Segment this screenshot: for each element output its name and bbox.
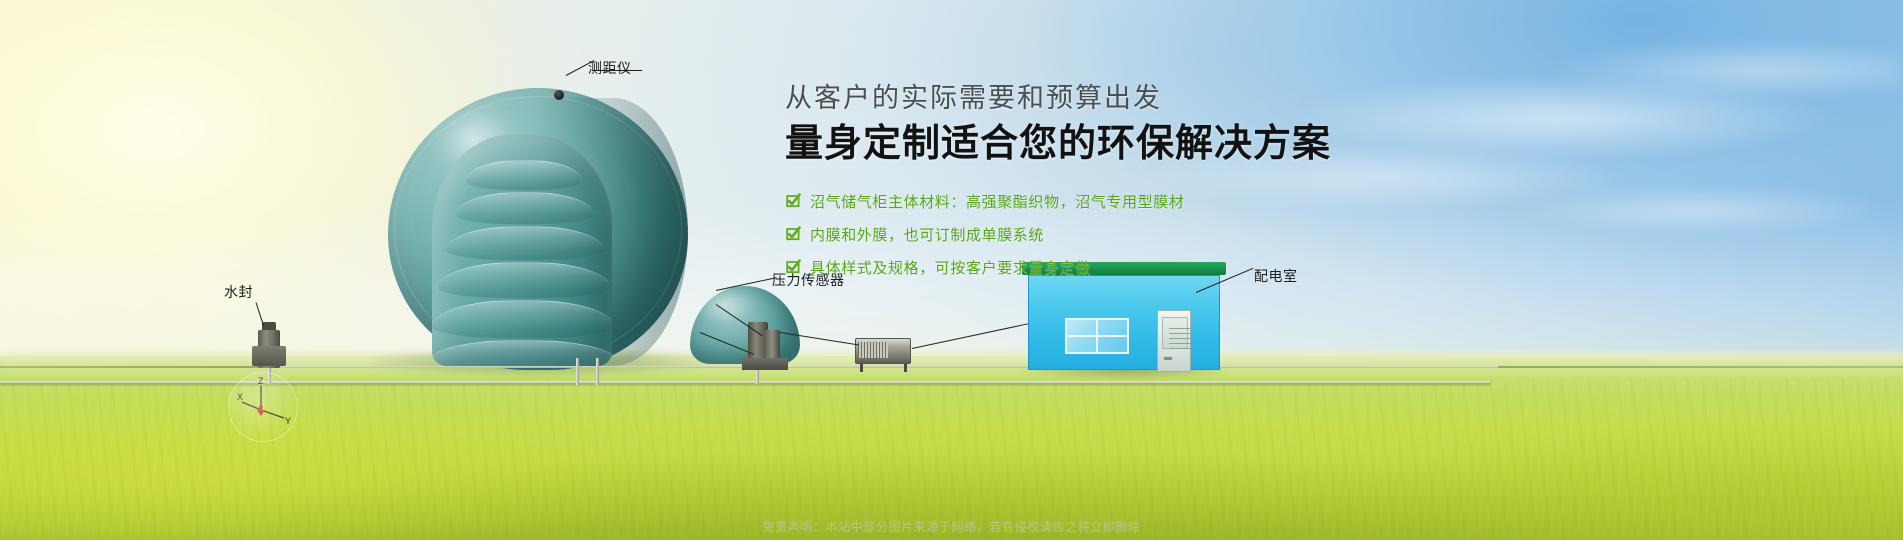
disclaimer-text: 免责声明：本站中部分图片来源于网络，若有侵权请告之将立即删除 (0, 518, 1903, 535)
membrane-fold (438, 262, 610, 298)
pipe-riser (576, 358, 579, 386)
blower-fins (858, 342, 888, 358)
pressure-sensor-base (742, 358, 788, 370)
gas-storage-dome (388, 88, 688, 370)
panel-display-lines (1169, 328, 1191, 352)
panel-button (1164, 357, 1172, 360)
membrane-fold (432, 340, 612, 366)
skid-leg (860, 364, 863, 372)
main-pipeline (0, 381, 1490, 384)
label-water-seal: 水封 (224, 282, 253, 302)
list-item: 具体样式及规格，可按客户要求量身定做 (785, 255, 1485, 280)
gizmo-ring (228, 372, 298, 442)
headline: 量身定制适合您的环保解决方案 (785, 121, 1485, 169)
list-item: 内膜和外膜，也可订制成单膜系统 (785, 222, 1485, 247)
rangefinder-device (554, 90, 564, 100)
marketing-copy: 从客户的实际需要和预算出发 量身定制适合您的环保解决方案 沼气储气柜主体材料：高… (785, 82, 1485, 288)
skid-leg (904, 364, 907, 372)
list-item-label: 具体样式及规格，可按客户要求量身定做 (810, 257, 1091, 278)
building-body (1028, 275, 1220, 370)
subtitle: 从客户的实际需要和预算出发 (785, 82, 1485, 114)
building-control-panel (1157, 310, 1191, 372)
secondary-pipeline (258, 366, 1498, 368)
membrane-fold (432, 300, 612, 338)
membrane-fold (446, 226, 604, 260)
dome-inner-membrane (432, 134, 612, 366)
water-seal-base (252, 346, 286, 366)
check-icon (785, 259, 801, 275)
hero-banner: 测距仪 水封 压力传感器 配电室 (0, 0, 1903, 540)
list-item-label: 沼气储气柜主体材料：高强聚酯织物，沼气专用型膜材 (810, 191, 1184, 212)
check-icon (785, 193, 801, 209)
check-icon (785, 226, 801, 242)
membrane-fold (456, 192, 594, 224)
feature-list: 沼气储气柜主体材料：高强聚酯织物，沼气专用型膜材 内膜和外膜，也可订制成单膜系统… (785, 189, 1485, 280)
label-rangefinder: 测距仪 (588, 58, 632, 78)
panel-display (1162, 317, 1188, 349)
axis-gizmo: Z X Y (228, 372, 298, 442)
list-item-label: 内膜和外膜，也可订制成单膜系统 (810, 224, 1044, 245)
membrane-fold (466, 160, 582, 190)
list-item: 沼气储气柜主体材料：高强聚酯织物，沼气专用型膜材 (785, 189, 1485, 214)
pipe-riser (596, 358, 599, 386)
building-window (1065, 318, 1129, 354)
